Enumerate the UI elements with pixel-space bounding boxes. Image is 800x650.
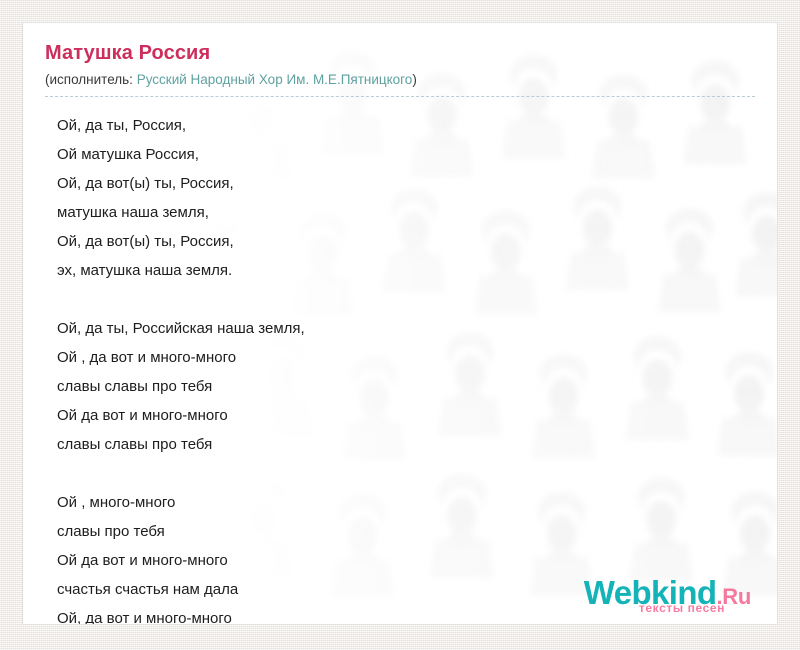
header-divider [45,96,755,97]
content-panel: Матушка Россия (исполнитель: Русский Нар… [22,22,778,625]
artist-prefix-label: (исполнитель: [45,72,137,87]
webkind-logo[interactable]: Webkind.Ru тексты песен [584,576,751,614]
artist-line: (исполнитель: Русский Народный Хор Им. М… [45,71,755,89]
page-title: Матушка Россия [45,41,755,65]
artist-suffix-label: ) [412,72,417,87]
lyrics-body: Ой, да ты, Россия, Ой матушка Россия, Ой… [57,111,755,625]
artist-link[interactable]: Русский Народный Хор Им. М.Е.Пятницкого [137,72,413,87]
